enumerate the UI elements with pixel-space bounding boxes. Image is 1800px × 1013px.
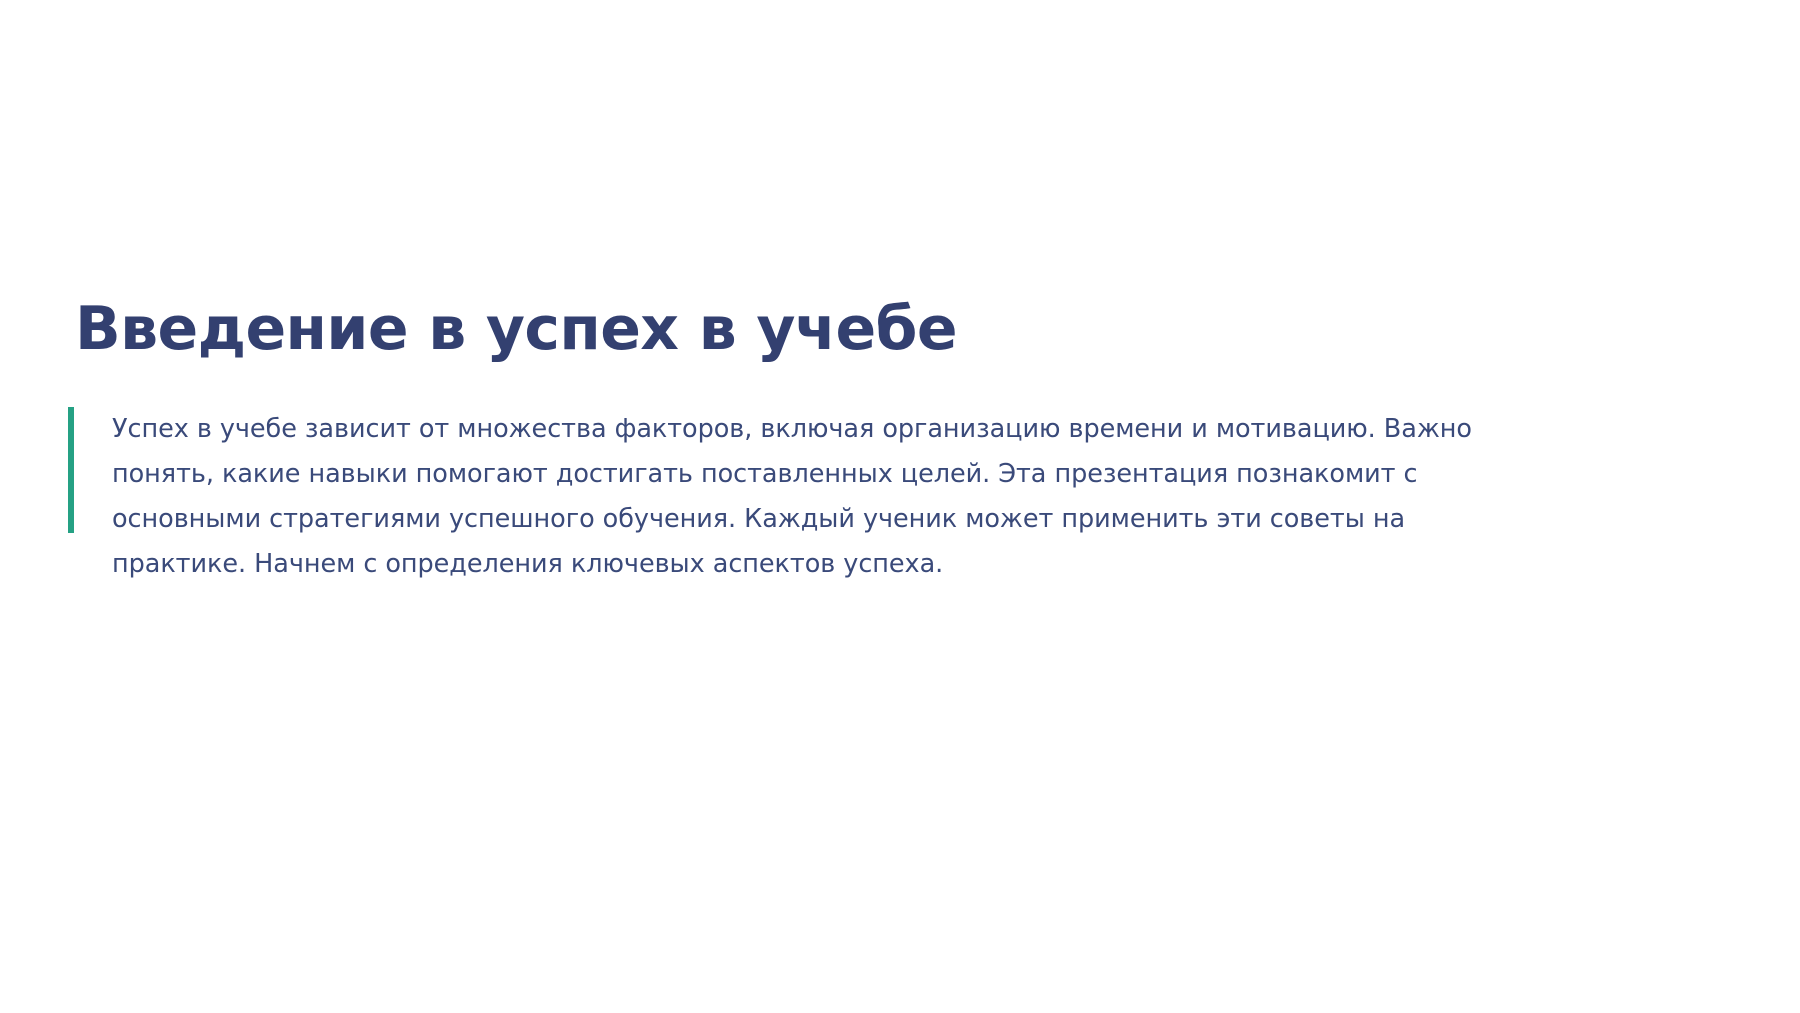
body-paragraph-block: Успех в учебе зависит от множества факто… xyxy=(68,407,1768,587)
accent-bar xyxy=(68,407,74,533)
slide-content-container: Введение в успех в учебе Успех в учебе з… xyxy=(68,296,1768,587)
body-paragraph-text: Успех в учебе зависит от множества факто… xyxy=(112,407,1517,587)
presentation-slide: Введение в успех в учебе Успех в учебе з… xyxy=(0,0,1800,1013)
page-title: Введение в успех в учебе xyxy=(68,296,1768,363)
